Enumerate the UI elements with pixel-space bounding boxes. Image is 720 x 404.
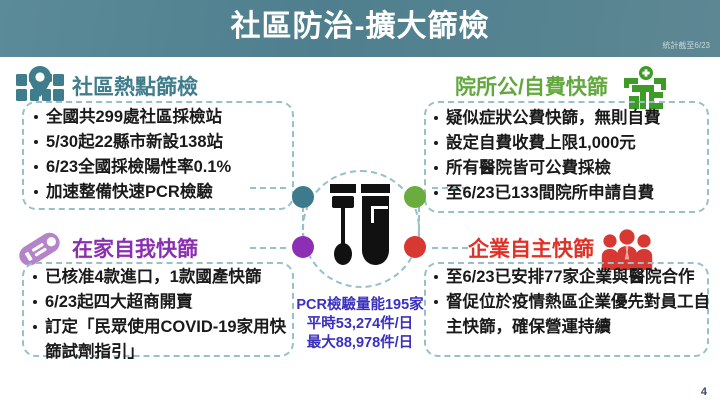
panel-home-bullets: 已核准4款進口，1款國產快篩 6/23起四大超商開賣 訂定「民眾使用COVID-… — [31, 265, 295, 365]
center-caption-line-1: PCR檢驗量能195家 — [268, 296, 452, 315]
panel-home-title: 在家自我快篩 — [72, 237, 198, 263]
list-item: 督促位於疫情熱區企業優先對員工自主快篩，確保營運持續 — [432, 290, 710, 340]
panel-company-title: 企業自主快篩 — [468, 237, 594, 263]
slide-canvas: 社區防治-擴大篩檢 統計截至6/23 — [0, 0, 720, 404]
list-item: 所有醫院皆可公費採檢 — [432, 156, 710, 181]
list-item: 至6/23已133間院所申請自費 — [432, 181, 710, 206]
list-item: 至6/23已安排77家企業與醫院合作 — [432, 265, 710, 290]
list-item: 6/23起四大超商開賣 — [31, 290, 295, 315]
list-item: 6/23全國採檢陽性率0.1% — [32, 155, 294, 180]
panel-company-bullets: 至6/23已安排77家企業與醫院合作 督促位於疫情熱區企業優先對員工自主快篩，確… — [432, 265, 710, 340]
list-item: 設定自費收費上限1,000元 — [432, 131, 710, 156]
panel-clinic-bullets: 疑似症狀公費快篩，無則自費 設定自費收費上限1,000元 所有醫院皆可公費採檢 … — [432, 106, 710, 206]
list-item: 5/30起22縣市新設138站 — [32, 130, 294, 155]
list-item: 加速整備快速PCR檢驗 — [32, 180, 294, 205]
dot-green — [404, 186, 426, 208]
dot-purple — [292, 236, 314, 258]
center-caption-line-2: 平時53,274件/日 — [268, 315, 452, 334]
center-caption-line-3: 最大88,978件/日 — [268, 334, 452, 353]
dot-red — [404, 236, 426, 258]
center-caption: PCR檢驗量能195家 平時53,274件/日 最大88,978件/日 — [268, 296, 452, 353]
header-statistics-note: 統計截至6/23 — [662, 40, 710, 51]
list-item: 全國共299處社區採檢站 — [32, 105, 294, 130]
list-item: 訂定「民眾使用COVID-19家用快篩試劑指引」 — [31, 315, 295, 365]
center-cluster — [276, 166, 444, 296]
dot-teal — [292, 186, 314, 208]
panel-clinic-title: 院所公/自費快篩 — [455, 75, 608, 101]
list-item: 已核准4款進口，1款國產快篩 — [31, 265, 295, 290]
panel-hotspot-bullets: 全國共299處社區採檢站 5/30起22縣市新設138站 6/23全國採檢陽性率… — [32, 105, 294, 205]
panel-hotspot-title: 社區熱點篩檢 — [72, 75, 198, 101]
swab-test-tube-icon — [328, 184, 392, 268]
page-title: 社區防治-擴大篩檢 — [0, 6, 720, 48]
page-number: 4 — [701, 386, 707, 398]
list-item: 疑似症狀公費快篩，無則自費 — [432, 106, 710, 131]
